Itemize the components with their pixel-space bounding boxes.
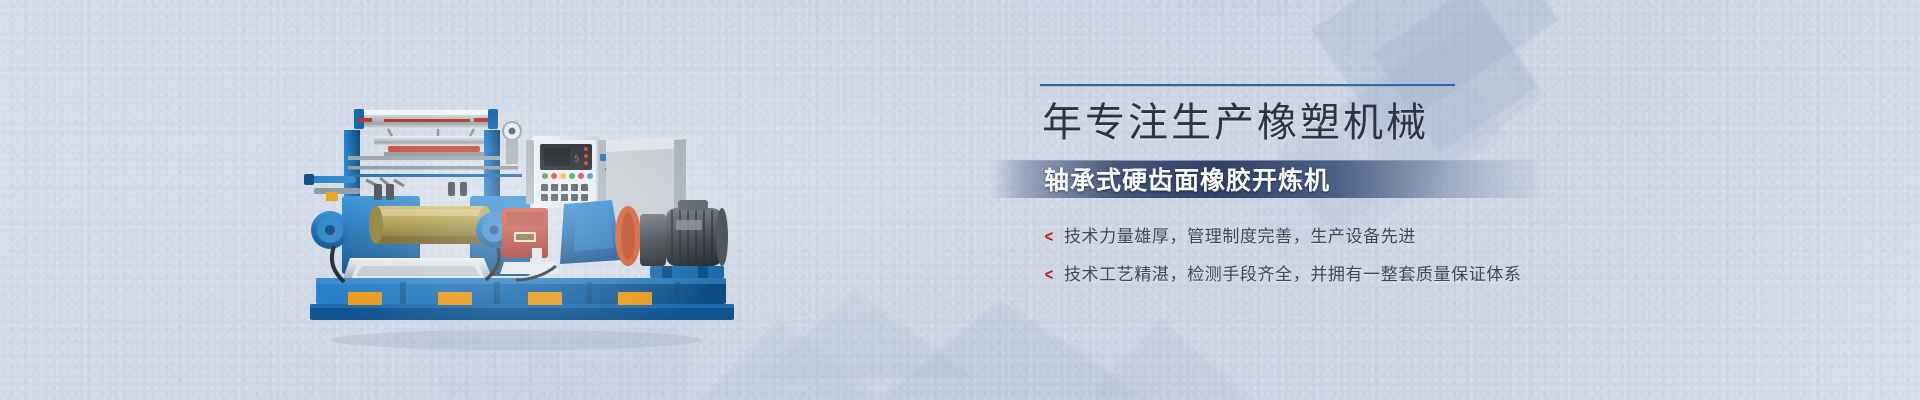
feature-text: 技术力量雄厚，管理制度完善，生产设备先进 [1064,222,1416,247]
chevron-left-icon: < [1045,266,1053,283]
feature-text: 技术工艺精湛，检测手段齐全，并拥有一整套质量保证体系 [1064,260,1522,285]
promo-banner: 5 [0,0,1920,400]
subtitle-bar: 轴承式硬齿面橡胶开炼机 [990,160,1550,198]
banner-content: 年专注生产橡塑机械 轴承式硬齿面橡胶开炼机 < 技术力量雄厚，管理制度完善，生产… [990,84,1550,298]
product-name: 轴承式硬齿面橡胶开炼机 [1044,161,1330,197]
list-item: < 技术力量雄厚，管理制度完善，生产设备先进 [1044,222,1550,247]
headline-rule [1040,84,1455,87]
rubber-mill-illustration: 5 [288,96,744,352]
page-title: 年专注生产橡塑机械 [1042,101,1550,146]
list-item: < 技术工艺精湛，检测手段齐全，并拥有一整套质量保证体系 [1044,260,1550,285]
chevron-left-icon: < [1045,228,1053,245]
product-image: 5 [288,96,744,352]
feature-list: < 技术力量雄厚，管理制度完善，生产设备先进 < 技术工艺精湛，检测手段齐全，并… [1044,222,1550,285]
